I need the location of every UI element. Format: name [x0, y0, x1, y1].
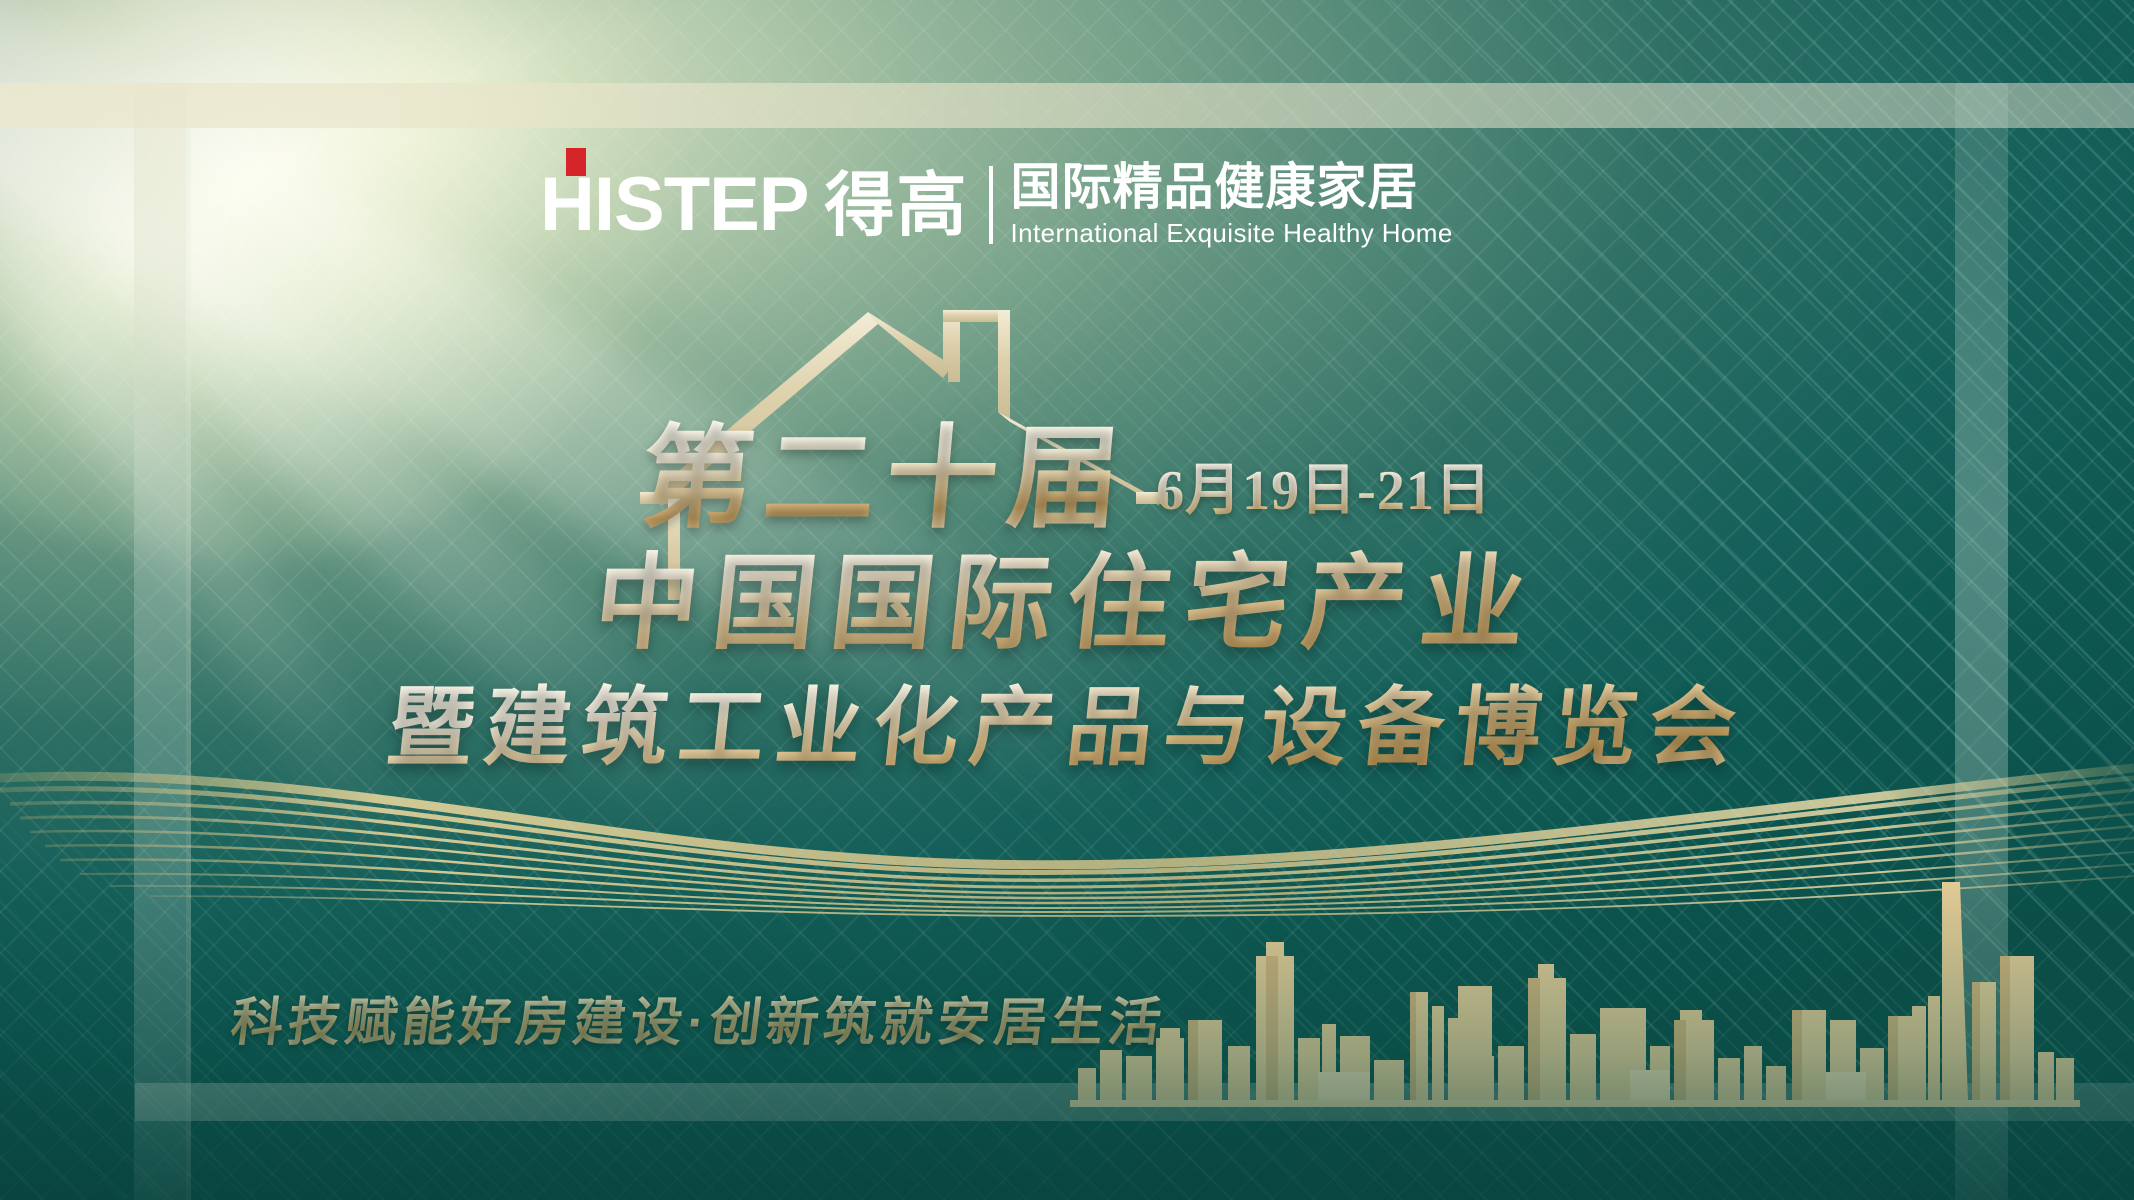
headline-line-3: 暨建筑工业化产品与设备博览会 [0, 682, 2134, 775]
headline-line-2: 中国国际住宅产业 [0, 548, 2134, 660]
headline-row-edition: 第二十届 6月19日-21日 [0, 420, 2134, 538]
logo-wordmark: HISTEP [540, 167, 809, 243]
logo-red-accent-icon [566, 148, 586, 176]
bottom-fade-overlay [0, 870, 2134, 1200]
headline-block: 第二十届 6月19日-21日 中国国际住宅产业 暨建筑工业化产品与设备博览会 [0, 420, 2134, 775]
logo-divider-icon [989, 166, 993, 244]
poster-canvas: HISTEP 得高 国际精品健康家居 International Exquisi… [0, 0, 2134, 1200]
logo-tagline-group: 国际精品健康家居 International Exquisite Healthy… [1011, 161, 1453, 249]
event-dates: 6月19日-21日 [1156, 445, 1492, 538]
brand-logo: HISTEP 得高 国际精品健康家居 International Exquisi… [540, 150, 1600, 260]
logo-tagline-en: International Exquisite Healthy Home [1011, 218, 1453, 249]
frame-top-bar [0, 83, 2134, 128]
logo-wordmark-cn: 得高 [825, 170, 969, 240]
logo-tagline-cn: 国际精品健康家居 [1011, 161, 1453, 214]
headline-edition: 第二十届 [637, 420, 1135, 538]
